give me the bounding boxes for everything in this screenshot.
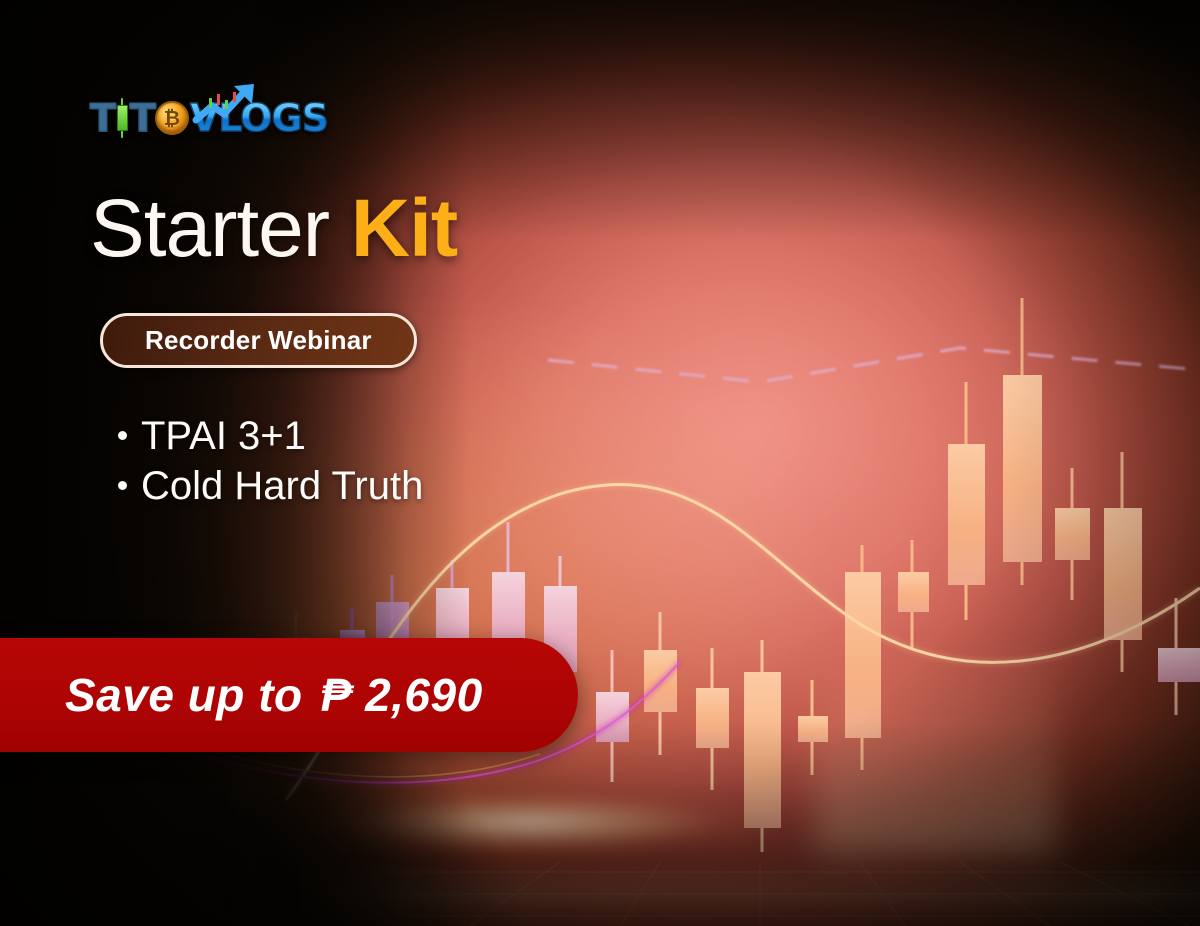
logo-vlogs-text: VLOGS xyxy=(190,99,328,137)
brand-logo[interactable]: T T ₿ VLOGS xyxy=(90,94,328,142)
headline-bold-part: Kit xyxy=(351,183,457,274)
bullet-dot-icon xyxy=(118,481,127,490)
list-item: TPAI 3+1 xyxy=(118,412,423,462)
save-amount-value: ₱ 2,690 xyxy=(321,669,483,721)
list-item-label: Cold Hard Truth xyxy=(141,462,423,512)
promo-banner: T T ₿ VLOGS Starter Kit xyxy=(0,0,1200,926)
recorder-webinar-badge[interactable]: Recorder Webinar xyxy=(100,313,417,368)
logo-letter-t1: T xyxy=(90,99,115,137)
banner-content: T T ₿ VLOGS Starter Kit xyxy=(0,0,1200,926)
recorder-webinar-label: Recorder Webinar xyxy=(145,325,372,356)
logo-letter-t2: T xyxy=(130,99,155,137)
logo-wordmark: T T ₿ VLOGS xyxy=(90,98,328,138)
list-item: Cold Hard Truth xyxy=(118,462,423,512)
save-prefix-label: Save up to xyxy=(65,669,303,721)
green-candlestick-icon xyxy=(117,98,128,138)
page-title: Starter Kit xyxy=(90,186,457,271)
bullet-dot-icon xyxy=(118,431,127,440)
save-promo-banner[interactable]: Save up to₱ 2,690 xyxy=(0,638,578,752)
feature-list: TPAI 3+1 Cold Hard Truth xyxy=(118,412,423,511)
list-item-label: TPAI 3+1 xyxy=(141,412,306,462)
bitcoin-symbol: ₿ xyxy=(164,108,180,128)
bitcoin-coin-icon: ₿ xyxy=(155,101,189,135)
headline-light-part: Starter xyxy=(90,183,351,274)
save-promo-text: Save up to₱ 2,690 xyxy=(65,668,483,722)
